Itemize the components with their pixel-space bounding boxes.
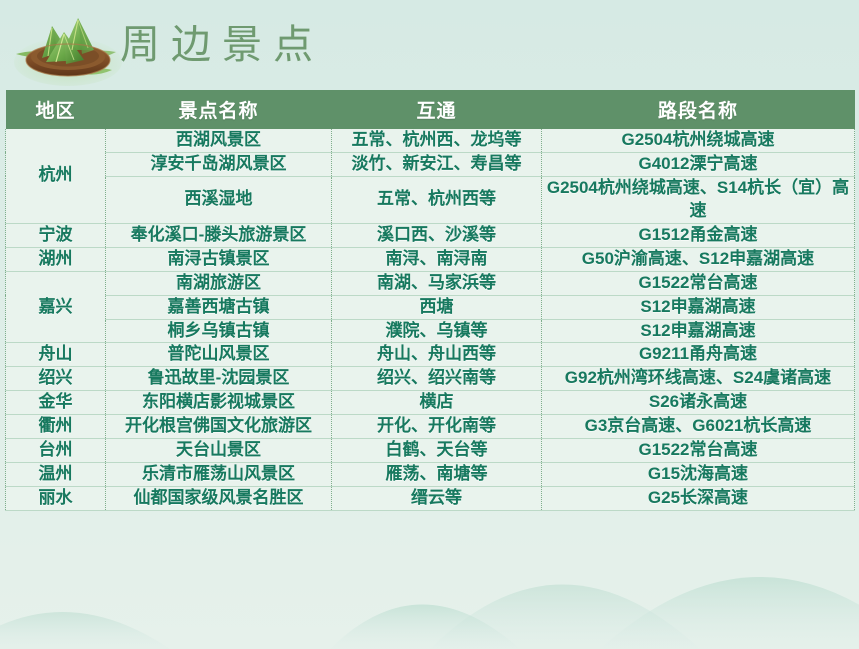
table-row: 台州天台山景区白鹤、天台等G1522常台高速 xyxy=(6,439,855,463)
table-row: 丽水仙都国家级风景名胜区缙云等G25长深高速 xyxy=(6,487,855,511)
cell-road: G25长深高速 xyxy=(542,487,855,511)
cell-spot: 南浔古镇景区 xyxy=(106,247,332,271)
cell-spot: 西溪湿地 xyxy=(106,176,332,223)
page-banner: 周边景点 xyxy=(0,0,859,90)
cell-road: S12申嘉湖高速 xyxy=(542,295,855,319)
cell-junction: 五常、杭州西等 xyxy=(332,176,542,223)
cell-spot: 天台山景区 xyxy=(106,439,332,463)
cell-spot: 鲁迅故里-沈园景区 xyxy=(106,367,332,391)
cell-region: 嘉兴 xyxy=(6,271,106,343)
table-header-row: 地区 景点名称 互通 路段名称 xyxy=(6,90,855,129)
cell-spot: 西湖风景区 xyxy=(106,129,332,152)
cell-road: G1522常台高速 xyxy=(542,439,855,463)
cell-spot: 南湖旅游区 xyxy=(106,271,332,295)
attractions-table: 地区 景点名称 互通 路段名称 杭州西湖风景区五常、杭州西、龙坞等G2504杭州… xyxy=(5,90,855,511)
table-row: 嘉善西塘古镇西塘S12申嘉湖高速 xyxy=(6,295,855,319)
zongzi-icon xyxy=(12,6,124,88)
cell-junction: 缙云等 xyxy=(332,487,542,511)
attractions-table-wrap: 地区 景点名称 互通 路段名称 杭州西湖风景区五常、杭州西、龙坞等G2504杭州… xyxy=(5,90,854,511)
table-row: 衢州开化根宫佛国文化旅游区开化、开化南等G3京台高速、G6021杭长高速 xyxy=(6,415,855,439)
cell-road: G4012溧宁高速 xyxy=(542,152,855,176)
table-row: 嘉兴南湖旅游区南湖、马家浜等G1522常台高速 xyxy=(6,271,855,295)
cell-road: S26诸永高速 xyxy=(542,391,855,415)
cell-junction: 南浔、南浔南 xyxy=(332,247,542,271)
cell-region: 绍兴 xyxy=(6,367,106,391)
table-row: 杭州西湖风景区五常、杭州西、龙坞等G2504杭州绕城高速 xyxy=(6,129,855,152)
cell-road: G15沈海高速 xyxy=(542,463,855,487)
cell-road: G2504杭州绕城高速、S14杭长（宜）高速 xyxy=(542,176,855,223)
cell-road: S12申嘉湖高速 xyxy=(542,319,855,343)
cell-junction: 白鹤、天台等 xyxy=(332,439,542,463)
table-header: 地区 景点名称 互通 路段名称 xyxy=(6,90,855,129)
cell-spot: 奉化溪口-滕头旅游景区 xyxy=(106,223,332,247)
table-row: 温州乐清市雁荡山风景区雁荡、南塘等G15沈海高速 xyxy=(6,463,855,487)
cell-junction: 淡竹、新安江、寿昌等 xyxy=(332,152,542,176)
cell-region: 金华 xyxy=(6,391,106,415)
table-row: 舟山普陀山风景区舟山、舟山西等G9211甬舟高速 xyxy=(6,343,855,367)
cell-region: 丽水 xyxy=(6,487,106,511)
table-row: 桐乡乌镇古镇濮院、乌镇等S12申嘉湖高速 xyxy=(6,319,855,343)
cell-spot: 嘉善西塘古镇 xyxy=(106,295,332,319)
table-row: 绍兴鲁迅故里-沈园景区绍兴、绍兴南等G92杭州湾环线高速、S24虞诸高速 xyxy=(6,367,855,391)
cell-region: 湖州 xyxy=(6,247,106,271)
cell-junction: 西塘 xyxy=(332,295,542,319)
column-header-road: 路段名称 xyxy=(542,90,855,129)
cell-spot: 开化根宫佛国文化旅游区 xyxy=(106,415,332,439)
cell-junction: 南湖、马家浜等 xyxy=(332,271,542,295)
cell-spot: 乐清市雁荡山风景区 xyxy=(106,463,332,487)
column-header-region: 地区 xyxy=(6,90,106,129)
table-body: 杭州西湖风景区五常、杭州西、龙坞等G2504杭州绕城高速淳安千岛湖风景区淡竹、新… xyxy=(6,129,855,511)
cell-region: 舟山 xyxy=(6,343,106,367)
cell-road: G9211甬舟高速 xyxy=(542,343,855,367)
cell-junction: 绍兴、绍兴南等 xyxy=(332,367,542,391)
cell-junction: 五常、杭州西、龙坞等 xyxy=(332,129,542,152)
column-header-junction: 互通 xyxy=(332,90,542,129)
cell-road: G1512甬金高速 xyxy=(542,223,855,247)
cell-road: G2504杭州绕城高速 xyxy=(542,129,855,152)
cell-road: G92杭州湾环线高速、S24虞诸高速 xyxy=(542,367,855,391)
cell-spot: 仙都国家级风景名胜区 xyxy=(106,487,332,511)
cell-junction: 舟山、舟山西等 xyxy=(332,343,542,367)
column-header-spot: 景点名称 xyxy=(106,90,332,129)
table-row: 宁波奉化溪口-滕头旅游景区溪口西、沙溪等G1512甬金高速 xyxy=(6,223,855,247)
cell-spot: 东阳横店影视城景区 xyxy=(106,391,332,415)
cell-junction: 开化、开化南等 xyxy=(332,415,542,439)
cell-spot: 淳安千岛湖风景区 xyxy=(106,152,332,176)
cell-junction: 雁荡、南塘等 xyxy=(332,463,542,487)
table-row: 西溪湿地五常、杭州西等G2504杭州绕城高速、S14杭长（宜）高速 xyxy=(6,176,855,223)
table-row: 湖州南浔古镇景区南浔、南浔南G50沪渝高速、S12申嘉湖高速 xyxy=(6,247,855,271)
cell-region: 温州 xyxy=(6,463,106,487)
cell-region: 杭州 xyxy=(6,129,106,223)
cell-region: 衢州 xyxy=(6,415,106,439)
table-row: 金华东阳横店影视城景区横店S26诸永高速 xyxy=(6,391,855,415)
cell-spot: 桐乡乌镇古镇 xyxy=(106,319,332,343)
cell-region: 台州 xyxy=(6,439,106,463)
cell-road: G1522常台高速 xyxy=(542,271,855,295)
cell-junction: 溪口西、沙溪等 xyxy=(332,223,542,247)
page-root: 周边景点 地区 景点名称 互通 路段名称 杭州西湖风景区五常、杭州西、龙坞等G2… xyxy=(0,0,859,649)
cell-spot: 普陀山风景区 xyxy=(106,343,332,367)
cell-junction: 濮院、乌镇等 xyxy=(332,319,542,343)
cell-region: 宁波 xyxy=(6,223,106,247)
table-row: 淳安千岛湖风景区淡竹、新安江、寿昌等G4012溧宁高速 xyxy=(6,152,855,176)
cell-junction: 横店 xyxy=(332,391,542,415)
cell-road: G50沪渝高速、S12申嘉湖高速 xyxy=(542,247,855,271)
cell-road: G3京台高速、G6021杭长高速 xyxy=(542,415,855,439)
page-title: 周边景点 xyxy=(120,16,324,74)
